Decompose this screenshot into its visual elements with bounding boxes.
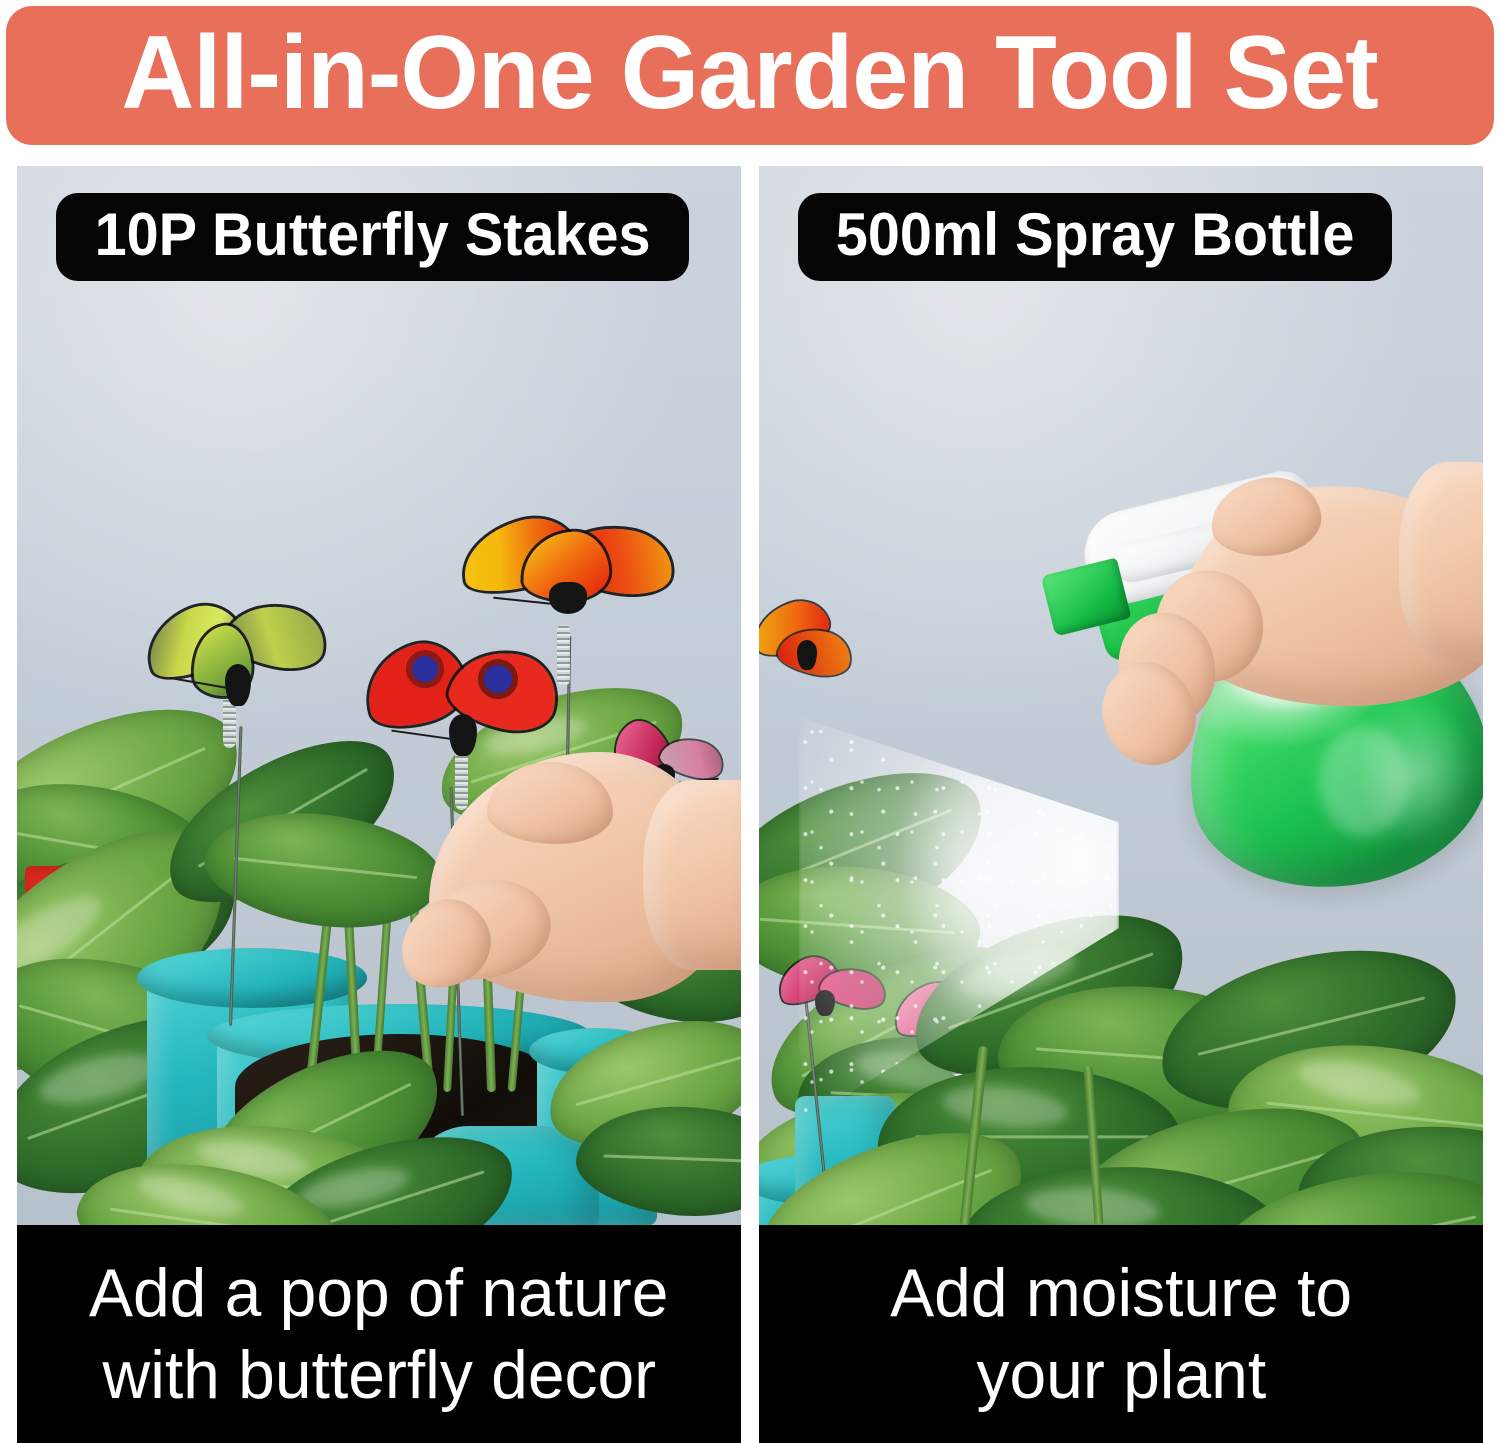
butterfly-stakes-photo: 10P Butterfly Stakes <box>17 166 741 1225</box>
caption-butterfly-stakes: Add a pop of nature with butterfly decor <box>17 1225 741 1443</box>
red-peacock-butterfly <box>365 636 565 766</box>
planter-rim <box>137 948 367 1008</box>
caption-line-1: Add a pop of nature <box>89 1253 668 1333</box>
panel-row: 10P Butterfly Stakes Add a pop of nature… <box>0 166 1500 1443</box>
badge-label: 500ml Spray Bottle <box>836 205 1355 270</box>
wrist <box>1399 462 1483 662</box>
butterfly-body <box>549 582 587 614</box>
caption-line-2: with butterfly decor <box>102 1335 656 1415</box>
butterfly-body <box>797 640 817 670</box>
page-title: All-in-One Garden Tool Set <box>122 21 1378 131</box>
product-infographic: All-in-One Garden Tool Set <box>0 0 1500 1443</box>
bottle-highlight <box>1319 726 1409 836</box>
badge-label: 10P Butterfly Stakes <box>95 205 651 270</box>
header-banner: All-in-One Garden Tool Set <box>6 6 1494 145</box>
butterfly-antenna <box>391 730 455 741</box>
butterfly-body <box>225 664 251 706</box>
butterfly-body <box>449 714 477 756</box>
yellow-green-butterfly <box>145 596 335 716</box>
caption-spray-bottle: Add moisture to your plant <box>759 1225 1483 1443</box>
panel-spray-bottle: 500ml Spray Bottle Add moisture to your … <box>759 166 1483 1443</box>
badge-butterfly-stakes: 10P Butterfly Stakes <box>56 193 689 281</box>
badge-spray-bottle: 500ml Spray Bottle <box>798 193 1392 281</box>
caption-line-1: Add moisture to <box>890 1253 1352 1333</box>
orange-red-butterfly <box>461 516 676 636</box>
wrist <box>643 780 741 970</box>
spray-bottle-photo: 500ml Spray Bottle <box>759 166 1483 1225</box>
caption-line-2: your plant <box>976 1335 1266 1415</box>
panel-butterfly-stakes: 10P Butterfly Stakes Add a pop of nature… <box>17 166 741 1443</box>
orange-butterfly <box>759 596 883 696</box>
